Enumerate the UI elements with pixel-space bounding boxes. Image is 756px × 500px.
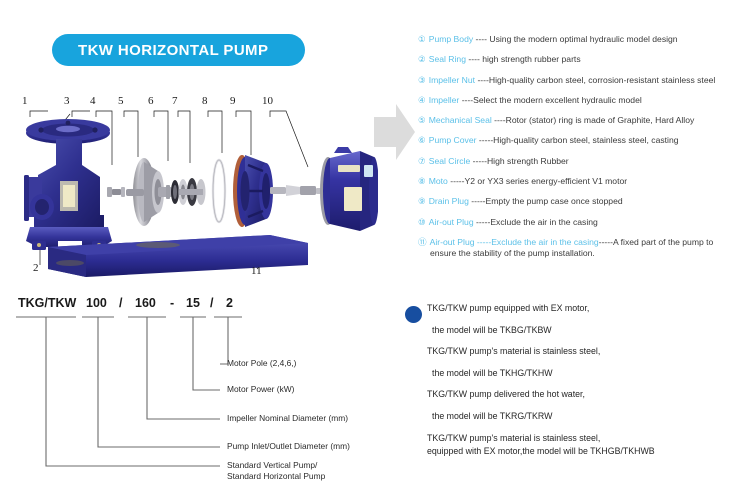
note-line-1: TKG/TKW pump equipped with EX motor, — [427, 303, 752, 314]
part-desc-5: ----Rotor (stator) ring is made of Graph… — [494, 115, 694, 125]
part-number-1: ① — [418, 34, 426, 44]
note-line-8: equipped with EX motor,the model will be… — [427, 446, 752, 457]
model-label-impeller-diameter: Impeller Nominal Diameter (mm) — [227, 413, 348, 424]
page-title-banner: TKW HORIZONTAL PUMP — [52, 34, 305, 66]
part-item-10: ⑩Air-out Plug -----Exclude the air in th… — [418, 217, 754, 228]
part-number-3: ③ — [418, 75, 426, 85]
part-item-8: ⑧Moto -----Y2 or YX3 series energy-effic… — [418, 176, 754, 187]
part-desc-11-continuation: ensure the stability of the pump install… — [430, 248, 754, 259]
part-desc-1: ---- Using the modern optimal hydraulic … — [476, 34, 678, 44]
part-desc-7: -----High strength Rubber — [473, 156, 569, 166]
part-item-9: ⑨Drain Plug -----Empty the pump case onc… — [418, 196, 754, 207]
part-desc-6: -----High-quality carbon steel, stainles… — [479, 135, 679, 145]
part-desc-11: -----A fixed part of the pump to — [599, 237, 714, 247]
model-variants-notes: TKG/TKW pump equipped with EX motor, the… — [427, 303, 752, 467]
callout-number-10: 10 — [262, 95, 273, 107]
callout-number-5: 5 — [118, 95, 124, 107]
notes-bullet-icon — [405, 306, 422, 323]
callout-number-11: 11 — [251, 265, 262, 277]
poster-root: TKW HORIZONTAL PUMP — [0, 0, 756, 500]
part-item-7: ⑦Seal Circle -----High strength Rubber — [418, 156, 754, 167]
part-item-5: ⑤Mechanical Seal ----Rotor (stator) ring… — [418, 115, 754, 126]
part-item-4: ④Impeller ----Select the modern excellen… — [418, 95, 754, 106]
part-name-1: Pump Body — [429, 34, 473, 44]
callout-number-1: 1 — [22, 95, 28, 107]
part-desc-4: ----Select the modern excellent hydrauli… — [462, 95, 642, 105]
part-item-6: ⑥Pump Cover -----High-quality carbon ste… — [418, 135, 754, 146]
part-name-6: Pump Cover — [429, 135, 477, 145]
model-label-motor-pole: Motor Pole (2,4,6,) — [227, 358, 296, 369]
part-number-6: ⑥ — [418, 135, 426, 145]
part-name-2: Seal Ring — [429, 54, 466, 64]
model-code-breakdown-diagram: TKG/TKW 100 / 160 - 15 / 2 Motor P — [14, 296, 399, 492]
part-number-5: ⑤ — [418, 115, 426, 125]
model-code-leader-lines — [14, 296, 399, 492]
part-name-9: Drain Plug — [429, 196, 469, 206]
parts-description-list: ①Pump Body ---- Using the modern optimal… — [418, 34, 754, 268]
part-number-11: ⑪ — [418, 237, 427, 247]
part-name-10: Air-out Plug — [429, 217, 474, 227]
part-item-2: ②Seal Ring ---- high strength rubber par… — [418, 54, 754, 65]
model-label-standard-pump-2: Standard Horizontal Pump — [227, 471, 325, 482]
callout-number-2: 2 — [33, 262, 39, 274]
part-number-8: ⑧ — [418, 176, 426, 186]
part-name-3: Impeller Nut — [429, 75, 475, 85]
part-item-1: ①Pump Body ---- Using the modern optimal… — [418, 34, 754, 45]
part-desc-3: ----High-quality carbon steel, corrosion… — [477, 75, 715, 85]
page-title: TKW HORIZONTAL PUMP — [78, 42, 268, 59]
part-desc-2: ---- high strength rubber parts — [468, 54, 580, 64]
exploded-pump-diagram: 1 3 4 5 6 7 8 9 10 2 11 — [8, 95, 378, 285]
note-line-4: the model will be TKHG/TKHW — [432, 368, 752, 379]
part-name-4: Impeller — [429, 95, 460, 105]
note-line-3: TKG/TKW pump's material is stainless ste… — [427, 346, 752, 357]
part-number-9: ⑨ — [418, 196, 426, 206]
note-line-6: the model will be TKRG/TKRW — [432, 411, 752, 422]
exploded-pump-illustration — [8, 95, 378, 285]
part-desc-10: -----Exclude the air in the casing — [476, 217, 598, 227]
part-number-4: ④ — [418, 95, 426, 105]
part-desc-9: -----Empty the pump case once stopped — [471, 196, 622, 206]
part-name-5: Mechanical Seal — [429, 115, 492, 125]
callout-number-4: 4 — [90, 95, 96, 107]
model-label-standard-pump-1: Standard Vertical Pump/ — [227, 460, 317, 471]
callout-number-8: 8 — [202, 95, 208, 107]
part-item-11: ⑪Air-out Plug -----Exclude the air in th… — [418, 237, 754, 259]
model-label-motor-power: Motor Power (kW) — [227, 384, 294, 395]
callout-number-3: 3 — [64, 95, 70, 107]
right-arrow-icon — [374, 103, 416, 161]
part-number-7: ⑦ — [418, 156, 426, 166]
callout-number-9: 9 — [230, 95, 236, 107]
part-name-7: Seal Circle — [429, 156, 471, 166]
part-number-2: ② — [418, 54, 426, 64]
note-line-7: TKG/TKW pump's material is stainless ste… — [427, 433, 752, 444]
callout-number-7: 7 — [172, 95, 178, 107]
note-line-5: TKG/TKW pump delivered the hot water, — [427, 389, 752, 400]
part-desc-8: -----Y2 or YX3 series energy-efficient V… — [450, 176, 627, 186]
part-name-11: Air-out Plug -----Exclude the air in the… — [430, 237, 599, 247]
callout-number-6: 6 — [148, 95, 154, 107]
part-name-8: Moto — [429, 176, 448, 186]
part-number-10: ⑩ — [418, 217, 426, 227]
part-item-3: ③Impeller Nut ----High-quality carbon st… — [418, 75, 754, 86]
model-label-inlet-diameter: Pump Inlet/Outlet Diameter (mm) — [227, 441, 350, 452]
note-line-2: the model will be TKBG/TKBW — [432, 325, 752, 336]
